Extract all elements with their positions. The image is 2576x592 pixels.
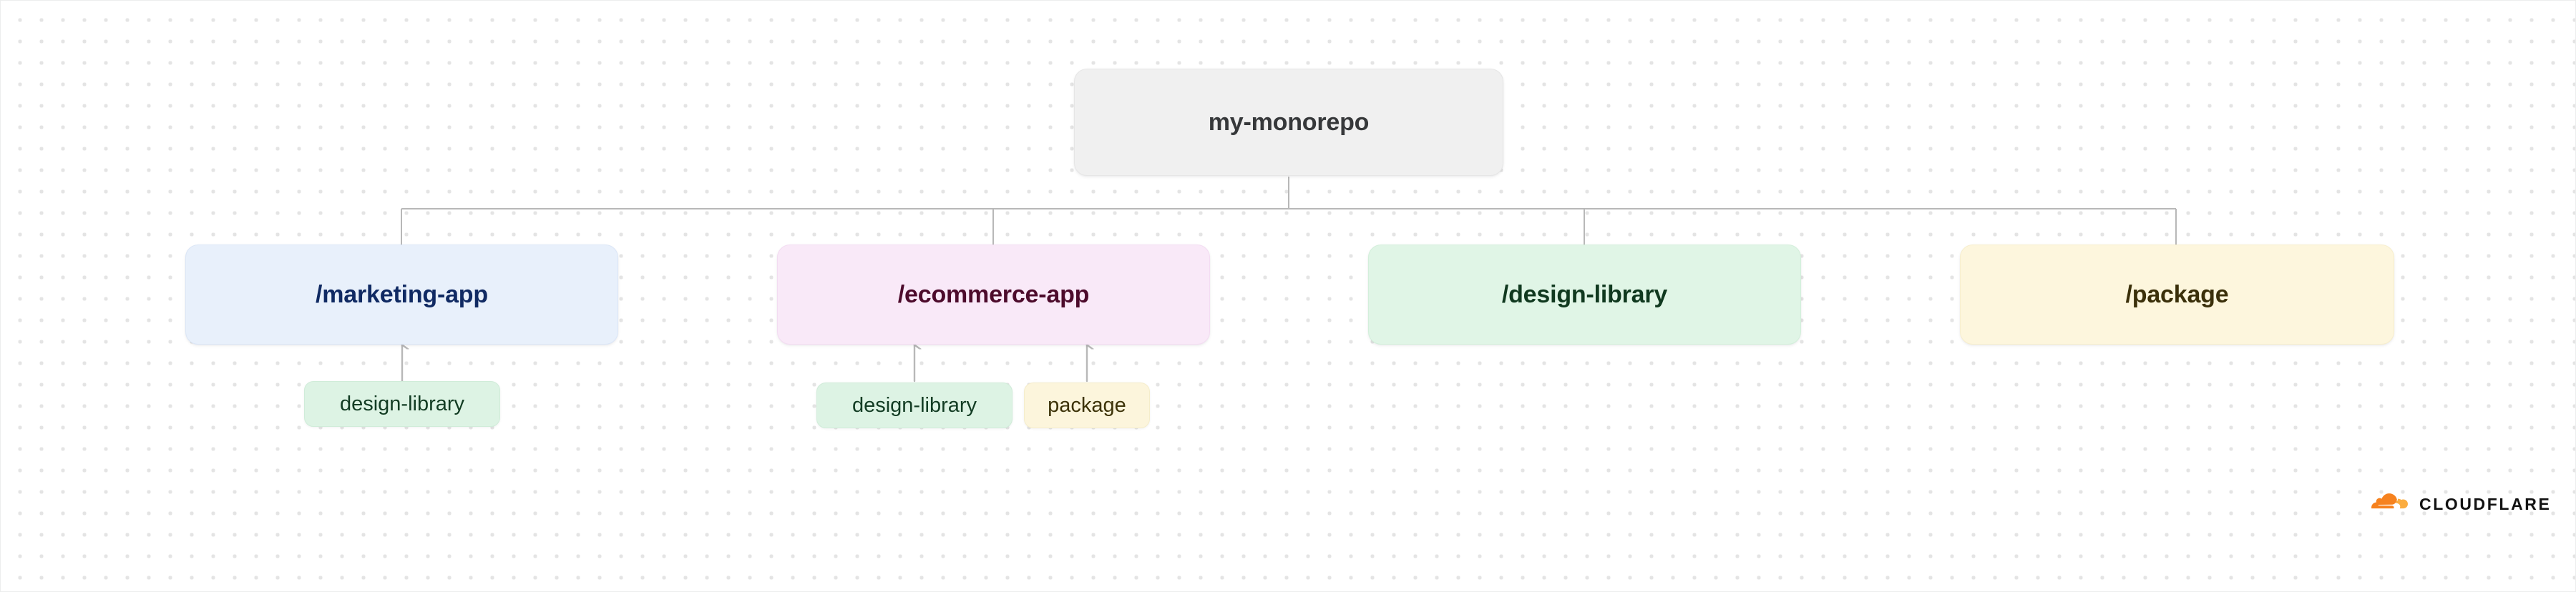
node-design-library[interactable]: /design-library [1368,245,1801,345]
node-label-my-monorepo: my-monorepo [1209,110,1369,134]
node-marketing-app[interactable]: /marketing-app [185,245,618,345]
node-my-monorepo[interactable]: my-monorepo [1074,69,1503,176]
node-ecommerce-app[interactable]: /ecommerce-app [777,245,1210,345]
dependency-chip-ecommerce-package[interactable]: package [1024,383,1150,428]
dependency-chip-marketing-design-library[interactable]: design-library [304,381,500,427]
cloudflare-cloud-icon [2366,493,2410,515]
cloud-main-shape [2371,493,2397,508]
node-label-marketing-app: /marketing-app [316,282,488,307]
cloud-accent-shape [2396,499,2408,508]
dependency-chip-label: package [1048,395,1126,416]
dependency-chip-label: design-library [852,395,977,416]
node-label-ecommerce-app: /ecommerce-app [898,282,1089,307]
diagram-canvas: my-monorepo /marketing-app /ecommerce-ap… [0,0,2576,592]
dependency-chip-ecommerce-design-library[interactable]: design-library [816,383,1013,428]
cloudflare-logo: CLOUDFLARE [2366,493,2551,515]
node-label-package: /package [2126,282,2229,307]
cloudflare-wordmark: CLOUDFLARE [2419,496,2551,513]
node-label-design-library: /design-library [1502,282,1667,307]
dependency-chip-label: design-library [340,394,464,415]
node-package[interactable]: /package [1960,245,2394,345]
